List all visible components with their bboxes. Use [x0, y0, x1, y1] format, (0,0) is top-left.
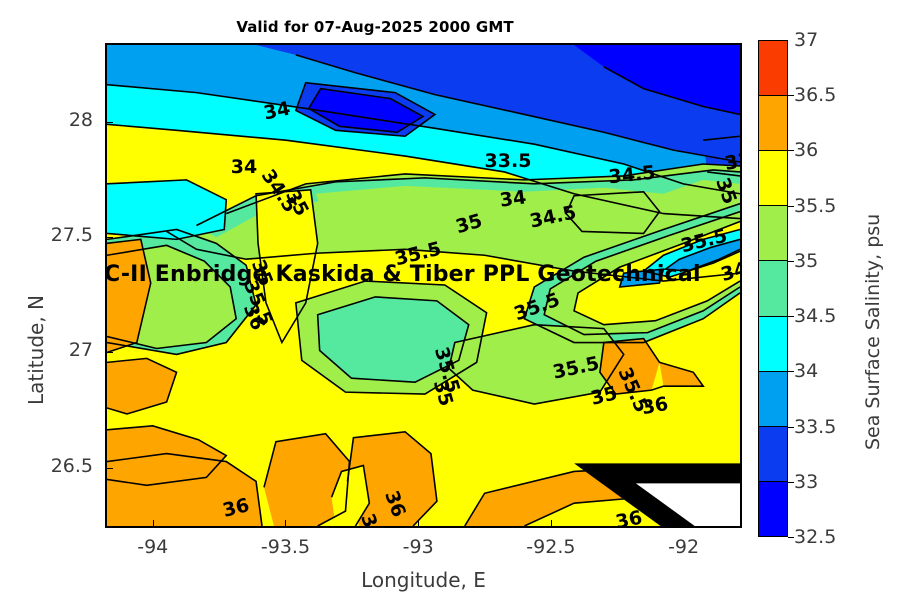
colorbar-tick-mark	[788, 482, 794, 483]
colorbar-tick-label: 35.5	[794, 195, 836, 217]
x-tick-label: -92	[639, 536, 729, 558]
colorbar-tick-mark	[788, 150, 794, 151]
x-tick-label: -93	[373, 536, 463, 558]
x-tick-mark	[684, 520, 685, 528]
colorbar-tick-mark	[788, 261, 794, 262]
colorbar-band	[759, 205, 787, 260]
colorbar-tick-mark	[788, 316, 794, 317]
colorbar-band	[759, 316, 787, 371]
colorbar-tick-label: 37	[794, 29, 818, 51]
y-tick-mark	[105, 352, 113, 353]
y-tick-mark	[105, 468, 113, 469]
site-star-marker	[519, 293, 742, 528]
contour-label: 33.5	[485, 150, 532, 172]
y-tick-label: 27.5	[23, 224, 93, 246]
figure-title: Valid for 07-Aug-2025 2000 GMT	[0, 18, 750, 36]
colorbar-band	[759, 95, 787, 150]
colorbar	[758, 40, 788, 537]
colorbar-band	[759, 371, 787, 426]
x-tick-label: -94	[108, 536, 198, 558]
colorbar-band	[759, 260, 787, 315]
x-axis-title: Longitude, E	[105, 568, 742, 592]
colorbar-tick-label: 33.5	[794, 416, 836, 438]
y-tick-mark	[105, 237, 113, 238]
colorbar-tick-label: 36	[794, 139, 818, 161]
site-annotation-label: C-II Enbridge Kaskida & Tiber PPL Geotec…	[104, 262, 744, 287]
colorbar-band	[759, 41, 787, 95]
x-tick-label: -92.5	[506, 536, 596, 558]
x-tick-mark	[285, 520, 286, 528]
colorbar-tick-label: 32.5	[794, 526, 836, 548]
colorbar-tick-label: 33	[794, 471, 818, 493]
contour-label: 34	[498, 186, 527, 211]
y-tick-mark	[105, 122, 113, 123]
colorbar-band	[759, 481, 787, 536]
x-tick-mark	[153, 520, 154, 528]
colorbar-tick-mark	[788, 371, 794, 372]
colorbar-tick-mark	[788, 427, 794, 428]
y-tick-label: 26.5	[23, 455, 93, 477]
colorbar-tick-label: 35	[794, 250, 818, 272]
colorbar-band	[759, 150, 787, 205]
colorbar-band	[759, 426, 787, 481]
x-tick-label: -93.5	[240, 536, 330, 558]
colorbar-tick-mark	[788, 537, 794, 538]
colorbar-title: Sea Surface Salinity, psu	[862, 214, 884, 450]
y-tick-label: 28	[23, 109, 93, 131]
colorbar-tick-label: 36.5	[794, 84, 836, 106]
colorbar-tick-mark	[788, 206, 794, 207]
colorbar-tick-mark	[788, 95, 794, 96]
y-axis-title: Latitude, N	[24, 295, 48, 405]
colorbar-tick-label: 34	[794, 360, 818, 382]
x-tick-mark	[551, 520, 552, 528]
salinity-map-figure: Valid for 07-Aug-2025 2000 GMT	[0, 0, 900, 600]
colorbar-tick-label: 34.5	[794, 305, 836, 327]
x-tick-mark	[418, 520, 419, 528]
contour-label: 34	[231, 156, 257, 178]
